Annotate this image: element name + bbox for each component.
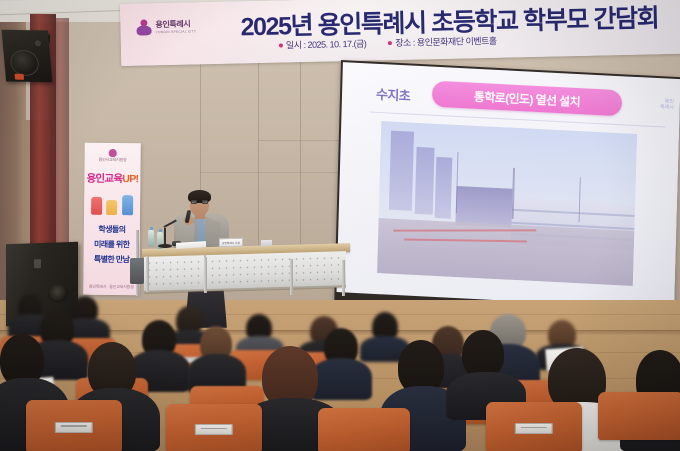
slide-topic-pill: 통학로(인도) 열선 설치 — [432, 81, 623, 117]
audience-head — [462, 330, 504, 378]
auditorium-seat — [26, 400, 122, 451]
speaker-glasses-icon — [191, 200, 208, 204]
banner-place-label: 장소 : 용인문화재단 이벤트홀 — [395, 34, 497, 49]
banner-date-label: 일시 : 2025. 10. 17.(금) — [286, 37, 367, 52]
small-box — [261, 240, 272, 246]
slide-pill-label: 통학로(인도) 열선 설치 — [474, 87, 581, 109]
seated-audience — [0, 292, 680, 451]
rollup-headline-accent: UP! — [122, 173, 138, 185]
auditorium-seat — [318, 408, 410, 451]
auditorium-seat — [598, 392, 680, 440]
rollup-illustrations — [89, 189, 135, 215]
water-bottle — [148, 230, 154, 247]
teacher-figure-icon — [122, 195, 133, 215]
auditorium-seat — [486, 402, 582, 451]
jbl-logo-icon — [14, 74, 24, 80]
rollup-logo: 용인시교육지원청 — [99, 149, 127, 163]
slide-school-label: 수지초 — [376, 84, 411, 105]
rollup-headline-main: 용인교육 — [86, 173, 122, 185]
auditorium-seat — [166, 404, 262, 451]
stage-curtain-fold — [55, 18, 69, 250]
city-emblem-icon — [136, 19, 151, 36]
photo-scene: 용인특례시 YONGIN SPECIAL CITY 2025년 용인특례시 초등… — [0, 0, 680, 451]
projection-screen: 수지초 통학로(인도) 열선 설치 용인특례시 — [337, 62, 680, 309]
projection-screen-frame: 수지초 통학로(인도) 열선 설치 용인특례시 — [334, 60, 680, 319]
av-equipment-box — [130, 258, 144, 284]
slide-photo — [377, 121, 637, 286]
education-office-emblem-icon — [109, 149, 117, 157]
nameplate: 용인특례시 시장 — [219, 238, 243, 248]
bullet-dot-icon — [388, 41, 392, 45]
rollup-logo-label: 용인시교육지원청 — [99, 157, 127, 162]
bullet-dot-icon — [279, 43, 283, 47]
seat-number-plate — [55, 422, 93, 433]
city-logo: 용인특례시 YONGIN SPECIAL CITY — [136, 18, 196, 36]
rollup-line-1: 학생들의 — [84, 223, 140, 238]
city-logo-subtext: YONGIN SPECIAL CITY — [156, 29, 197, 34]
microphone-base — [158, 244, 172, 248]
seat-number-plate — [195, 424, 233, 435]
audience-shoulders — [310, 358, 372, 400]
slide-corner-logo: 용인특례시 — [660, 98, 674, 111]
rollup-headline: 용인교육UP! — [84, 171, 140, 187]
book-figure-icon — [107, 200, 118, 215]
rollup-line-2: 미래를 위한 — [84, 238, 140, 253]
wall-mounted-speaker — [2, 30, 53, 83]
student-figure-icon — [91, 197, 102, 215]
rollup-footer: 용인특례시 · 용인교육지원청 — [83, 284, 139, 291]
seat-number-plate — [515, 423, 553, 434]
